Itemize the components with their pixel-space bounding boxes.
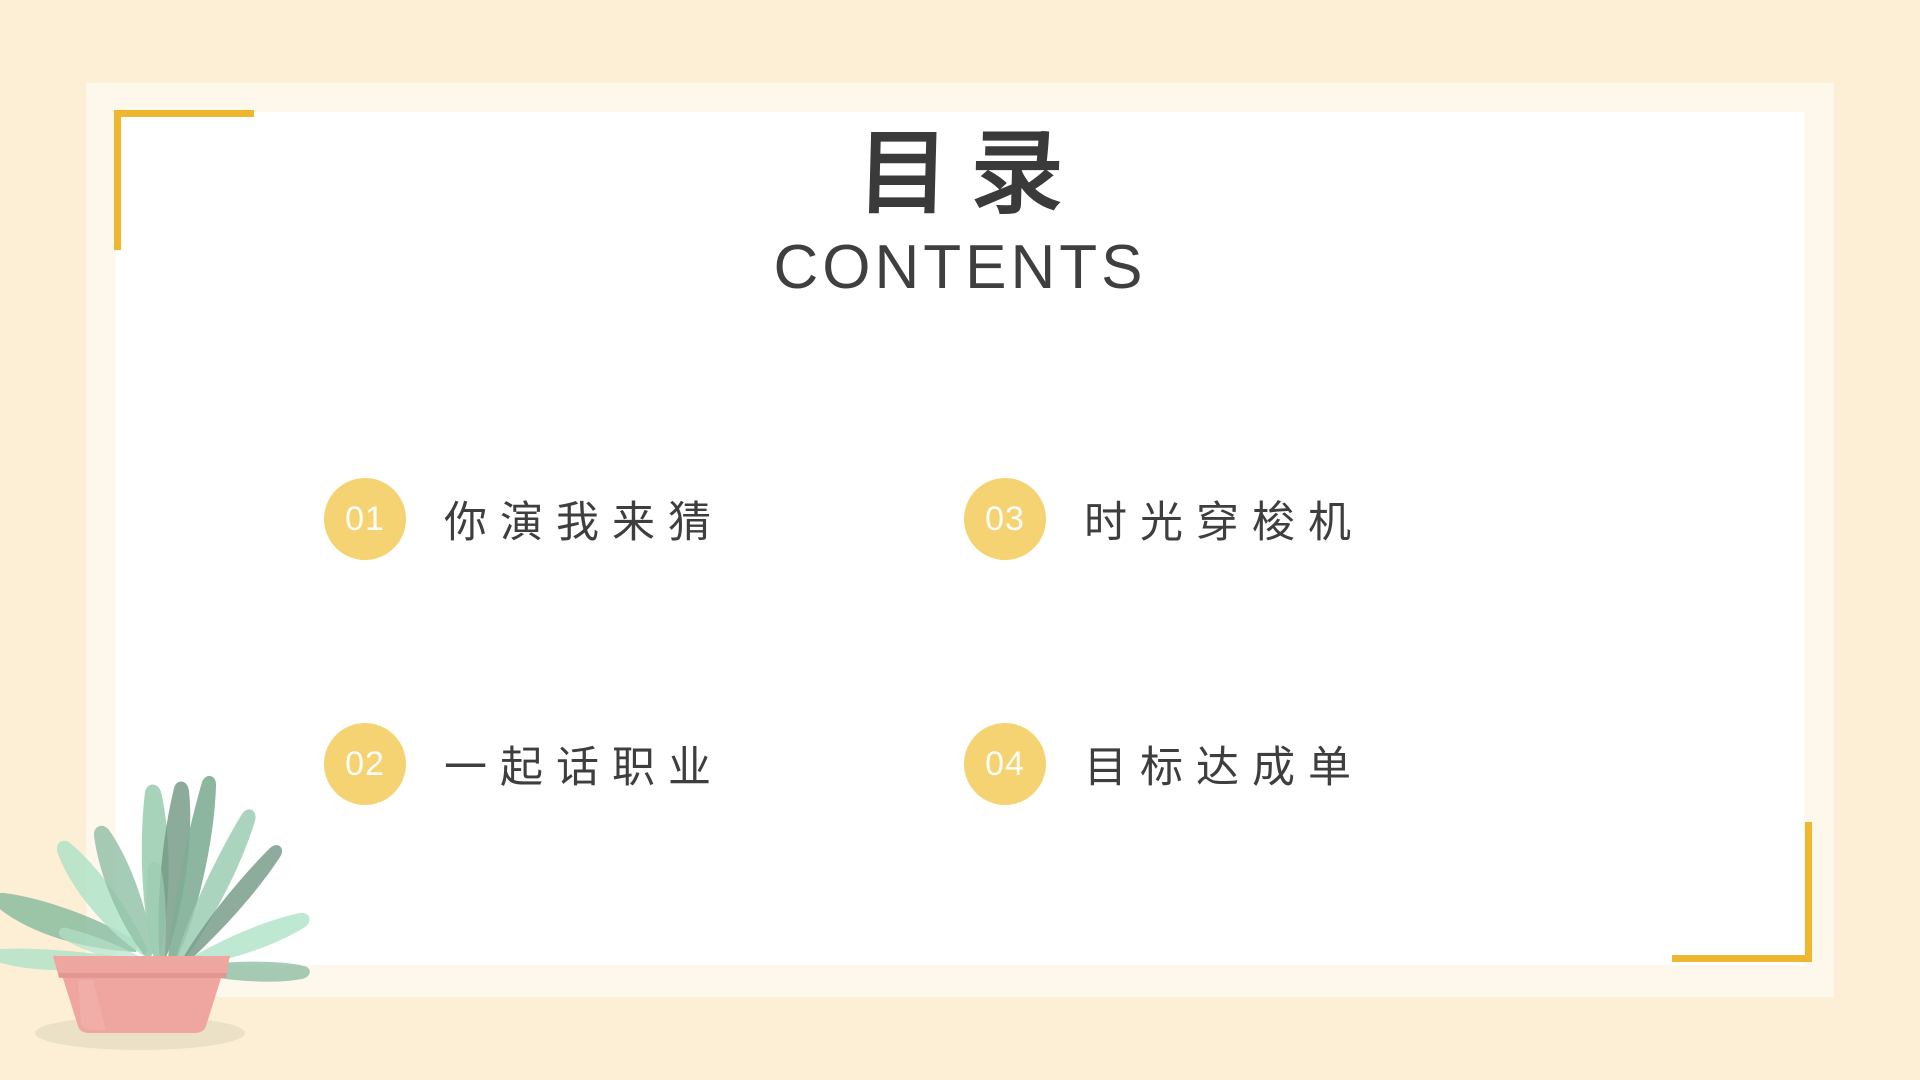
corner-bracket-bottom-right-icon bbox=[1672, 822, 1812, 962]
list-item[interactable]: 02 一起话职业 bbox=[324, 715, 964, 813]
list-item-label: 时光穿梭机 bbox=[1084, 488, 1364, 550]
item-number-badge: 04 bbox=[964, 723, 1046, 805]
contents-slide: 目录 CONTENTS 01 你演我来猜 03 时光穿梭机 02 一起话职业 0… bbox=[0, 0, 1920, 1080]
item-number-badge: 03 bbox=[964, 478, 1046, 560]
item-number-badge: 02 bbox=[324, 723, 406, 805]
list-item[interactable]: 04 目标达成单 bbox=[964, 715, 1604, 813]
bracket-horizontal-bar bbox=[1672, 955, 1812, 962]
pot-rim-line bbox=[58, 973, 227, 978]
leaf-cluster bbox=[0, 776, 310, 982]
list-item-label: 你演我来猜 bbox=[444, 488, 724, 550]
list-item-label: 一起话职业 bbox=[444, 733, 724, 795]
bracket-vertical-bar bbox=[1805, 822, 1812, 962]
potted-plant-illustration bbox=[0, 730, 328, 1080]
corner-bracket-top-left-icon bbox=[114, 110, 254, 250]
contents-list: 01 你演我来猜 03 时光穿梭机 02 一起话职业 04 目标达成单 bbox=[324, 470, 1584, 960]
item-number-badge: 01 bbox=[324, 478, 406, 560]
bracket-horizontal-bar bbox=[114, 110, 254, 117]
list-item[interactable]: 01 你演我来猜 bbox=[324, 470, 964, 568]
list-item-label: 目标达成单 bbox=[1084, 733, 1364, 795]
list-item[interactable]: 03 时光穿梭机 bbox=[964, 470, 1604, 568]
bracket-vertical-bar bbox=[114, 110, 121, 250]
